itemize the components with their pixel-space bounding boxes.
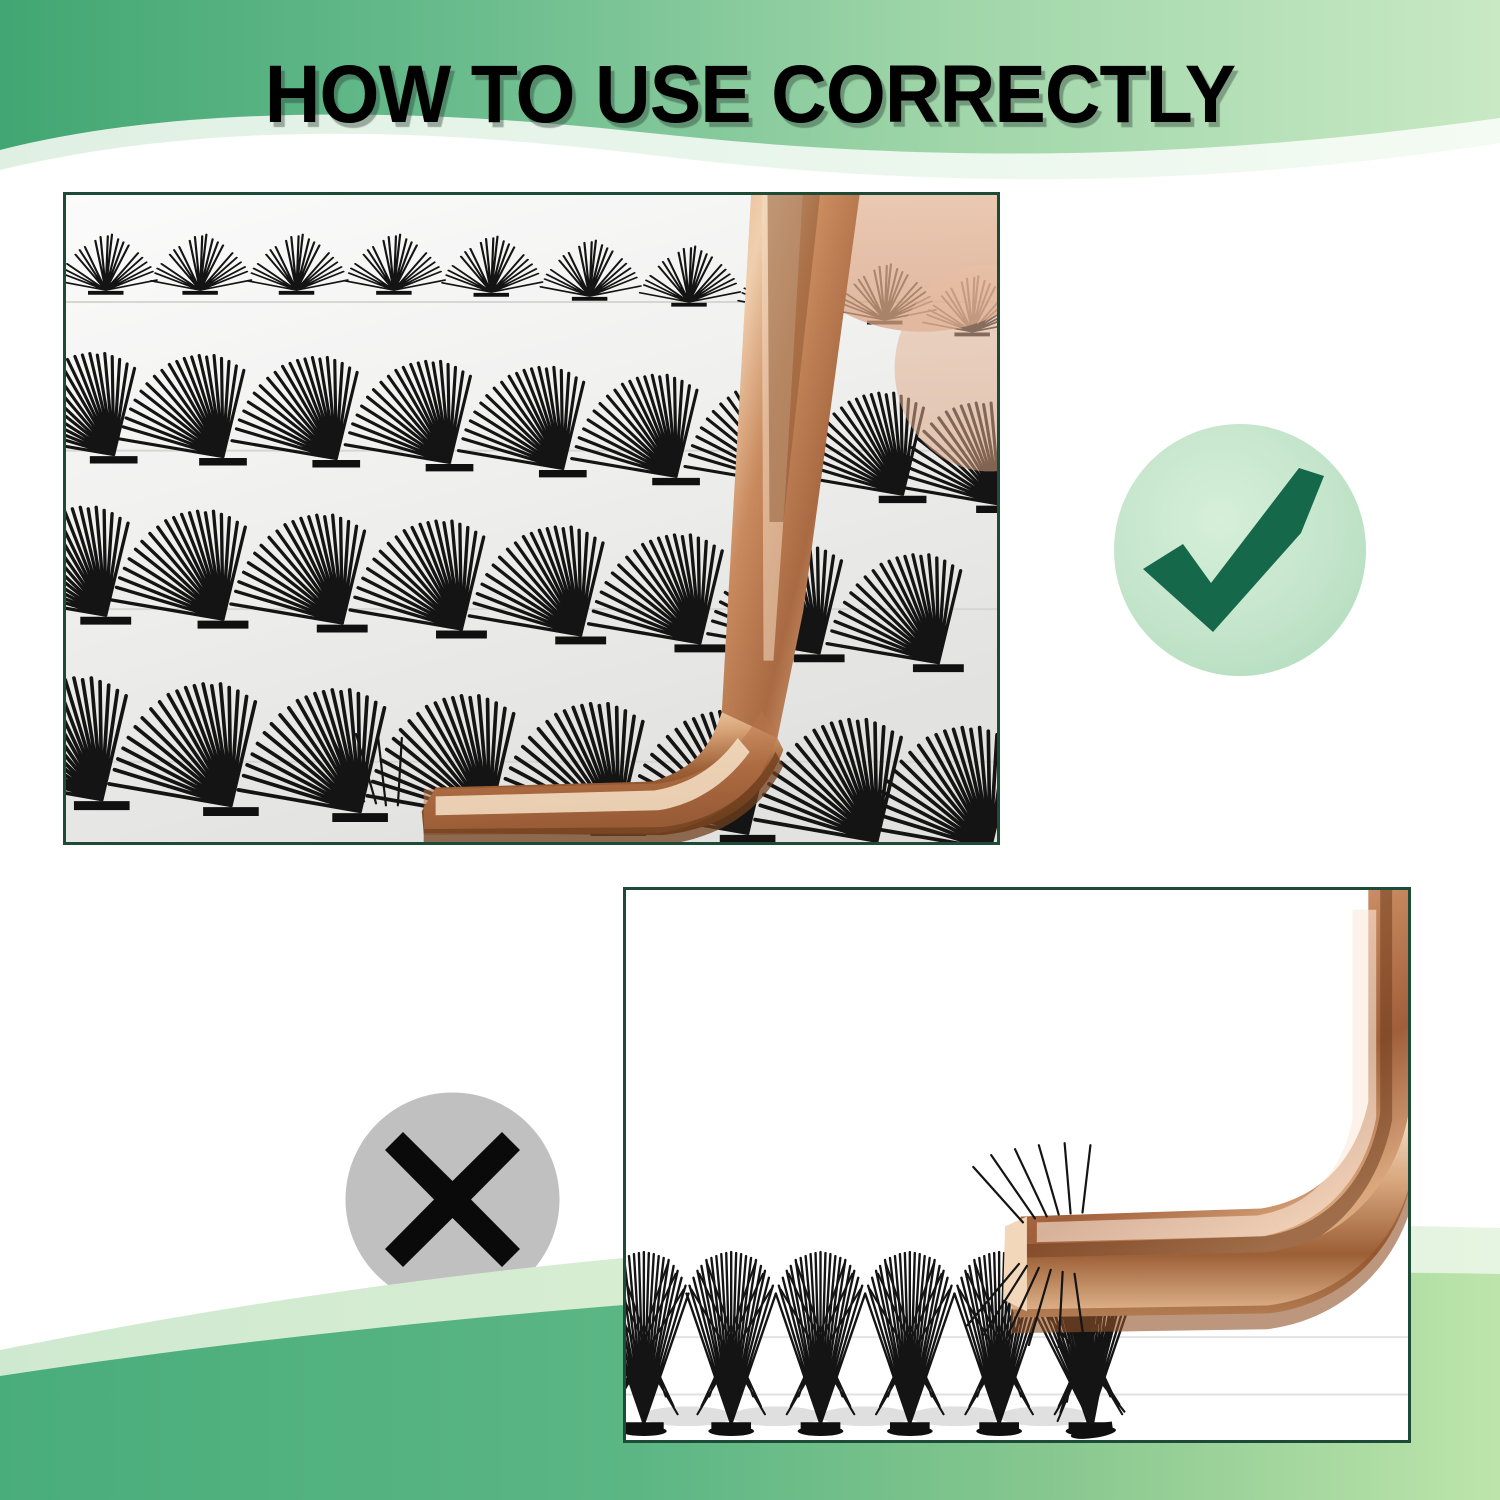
check-icon bbox=[1113, 423, 1367, 677]
incorrect-usage-photo bbox=[623, 887, 1411, 1443]
incorrect-usage-photo-graphic bbox=[626, 890, 1408, 1440]
page-title: HOW TO USE CORRECTLY bbox=[45, 52, 1455, 138]
correct-usage-photo bbox=[63, 192, 1000, 845]
infographic-page: HOW TO USE CORRECTLY bbox=[0, 0, 1500, 1500]
check-badge bbox=[1113, 423, 1367, 677]
correct-usage-photo-graphic bbox=[66, 195, 997, 842]
header-banner: HOW TO USE CORRECTLY bbox=[0, 0, 1500, 210]
